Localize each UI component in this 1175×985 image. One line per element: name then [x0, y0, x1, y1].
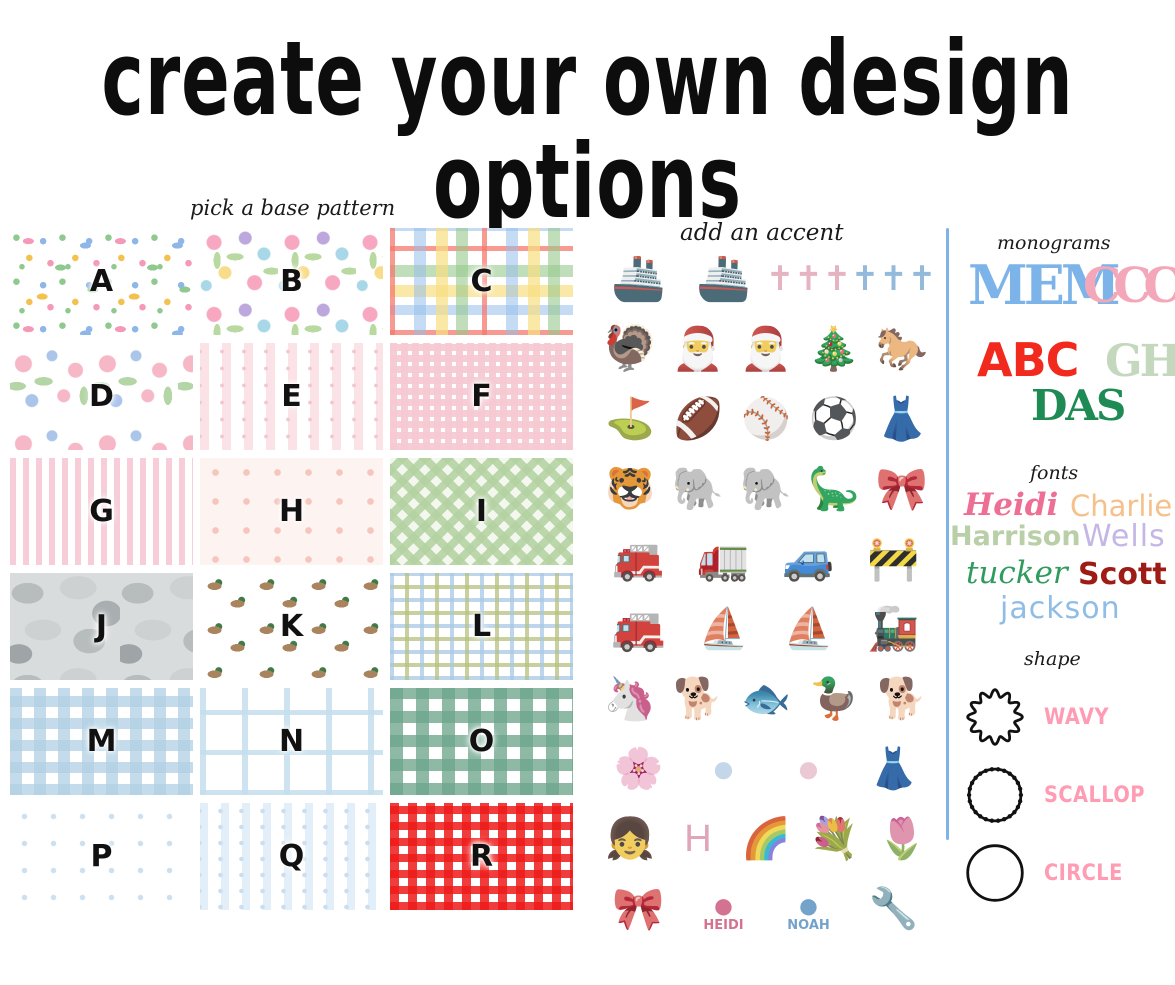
font-wells[interactable]: Wells [1082, 522, 1166, 552]
dump-truck-icon[interactable]: 🚛 [681, 526, 766, 592]
pattern-letter-p: P [10, 803, 193, 910]
monogram-options: MEM CCC ABC GHP DAS [955, 252, 1170, 432]
tulips-icon-glyph: 🌷 [877, 819, 927, 859]
pattern-letter-r: R [390, 803, 573, 910]
pink-crosses-icon[interactable]: ✝✝✝ [766, 246, 851, 312]
pattern-swatch-m[interactable]: M [10, 688, 193, 795]
pattern-letter-b: B [200, 228, 383, 335]
rocking-horse-icon-glyph: 🐎 [876, 328, 928, 370]
red-fire-truck-icon-glyph: 🚒 [612, 538, 664, 580]
pink-noahs-ark-icon[interactable]: 🚢 [596, 246, 681, 312]
pattern-swatch-h[interactable]: H [200, 458, 383, 565]
pink-crosses-icon-glyph: ✝✝✝ [766, 262, 851, 296]
hydrangea-icon[interactable]: 💐 [800, 806, 868, 872]
pink-bow-icon[interactable]: 🎀 [868, 456, 936, 522]
pattern-letter-l: L [390, 573, 573, 680]
lab-puppy-icon-glyph: 🐕 [877, 679, 927, 719]
font-options: Heidi Charlie Harrison Wells tucker Scot… [950, 490, 1175, 630]
elephants-icon[interactable]: 🐘 [664, 456, 732, 522]
pattern-letter-h: H [200, 458, 383, 565]
blue-train-icon[interactable]: 🚂 [851, 596, 936, 662]
monogram-ccc[interactable]: CCC [1083, 262, 1174, 310]
blue-crosses-icon[interactable]: ✝✝✝ [851, 246, 936, 312]
font-scott[interactable]: Scott [1078, 560, 1167, 590]
rainbow-with-bows-icon[interactable]: 🌈 [732, 806, 800, 872]
pink-gingham-bow-ears-icon-glyph: ● [796, 749, 820, 789]
pink-unicorn-icon[interactable]: 🦄 [596, 666, 664, 732]
elephant-with-bow-icon-glyph: 🐘 [740, 468, 792, 510]
pattern-letter-d: D [10, 343, 193, 450]
pattern-letter-q: Q [200, 803, 383, 910]
floral-ears-bow-icon-glyph: 🌸 [614, 749, 664, 789]
rocking-horse-icon[interactable]: 🐎 [868, 316, 936, 382]
accent-row-4: 🐯🐘🐘🦕🎀 [596, 456, 936, 522]
elephants-icon-glyph: 🐘 [672, 468, 724, 510]
accent-row-2: 🦃🎅🎅🎄🐎 [596, 316, 936, 382]
pattern-letter-i: I [390, 458, 573, 565]
pattern-swatch-k[interactable]: K [200, 573, 383, 680]
pattern-swatch-o[interactable]: O [390, 688, 573, 795]
monster-truck-icon-glyph: 🚙 [782, 538, 834, 580]
font-jackson[interactable]: jackson [1000, 594, 1121, 624]
pink-sailboat-icon-glyph: ⛵ [784, 609, 834, 649]
monogram-abc[interactable]: ABC [977, 337, 1078, 383]
accent-section-label: add an accent [680, 220, 843, 246]
blue-noahs-ark-icon-glyph: 🚢 [696, 257, 751, 301]
blue-fire-truck-icon-glyph: 🚒 [611, 607, 666, 651]
heidi-bow-ears-icon-label: HEIDI [703, 919, 743, 932]
tiger-mascot-icon-glyph: 🐯 [605, 469, 655, 509]
excavator-icon-glyph: 🚧 [867, 538, 919, 580]
accent-row-5: 🚒🚛🚙🚧 [596, 526, 936, 592]
golf-green-icon[interactable]: ⛳ [596, 386, 664, 452]
blue-santa-icon[interactable]: 🎅 [664, 316, 732, 382]
pink-unicorn-icon-glyph: 🦄 [604, 678, 656, 720]
fonts-section-label: fonts [1030, 462, 1078, 484]
scallop-shape-icon [960, 760, 1030, 830]
turkey-icon-glyph: 🦃 [603, 327, 658, 371]
blue-gingham-ears-icon-glyph: ● [711, 749, 735, 789]
base-pattern-section-label: pick a base pattern [190, 196, 395, 220]
pink-santa-icon[interactable]: 🎅 [732, 316, 800, 382]
blue-crosses-icon-glyph: ✝✝✝ [851, 262, 936, 296]
blue-fire-truck-icon[interactable]: 🚒 [596, 596, 681, 662]
monogram-ghp[interactable]: GHP [1105, 340, 1175, 384]
baseball-bat-icon-glyph: ⚾ [741, 399, 791, 439]
green-fish-icon-glyph: 🐟 [741, 679, 791, 719]
princess-dresses-icon[interactable]: 👗 [851, 736, 936, 802]
pink-doll-silhouette-icon-glyph: 👧 [605, 819, 655, 859]
font-charlie[interactable]: Charlie [1070, 492, 1172, 521]
accent-row-3: ⛳🏈⚾⚽👗 [596, 386, 936, 452]
pattern-swatch-q[interactable]: Q [200, 803, 383, 910]
blue-sailboat-icon-glyph: ⛵ [699, 609, 749, 649]
tulips-icon[interactable]: 🌷 [868, 806, 936, 872]
pattern-swatch-g[interactable]: G [10, 458, 193, 565]
accent-row-8: 🌸●●👗 [596, 736, 936, 802]
pattern-swatch-f[interactable]: F [390, 343, 573, 450]
pink-bow-large-icon-glyph: 🎀 [612, 888, 664, 930]
elephant-with-bow-icon[interactable]: 🐘 [732, 456, 800, 522]
floral-monogram-h-icon[interactable]: H [664, 806, 732, 872]
pattern-letter-j: J [10, 573, 193, 680]
accent-row-10: 🎀●HEIDI●NOAH🔧 [596, 876, 936, 942]
floral-monogram-h-icon-glyph: H [684, 820, 711, 858]
shape-options: WAVY SCALLOP CIRCLE [960, 682, 1175, 900]
pink-bow-large-icon[interactable]: 🎀 [596, 876, 681, 942]
tools-icon-glyph: 🔧 [869, 889, 919, 929]
football-icon[interactable]: 🏈 [664, 386, 732, 452]
lab-puppy-icon[interactable]: 🐕 [868, 666, 936, 732]
font-heidi[interactable]: Heidi [964, 490, 1058, 521]
pattern-letter-c: C [390, 228, 573, 335]
mallard-duck-icon[interactable]: 🦆 [800, 666, 868, 732]
pattern-swatch-p[interactable]: P [10, 803, 193, 910]
pink-santa-icon-glyph: 🎅 [740, 328, 792, 370]
football-icon-glyph: 🏈 [673, 399, 723, 439]
excavator-icon[interactable]: 🚧 [851, 526, 936, 592]
shape-option-circle[interactable]: CIRCLE [960, 838, 1175, 908]
wavy-shape-icon [960, 682, 1030, 752]
puppy-icon[interactable]: 🐕 [664, 666, 732, 732]
mallard-duck-icon-glyph: 🦆 [809, 679, 859, 719]
pink-bow-icon-glyph: 🎀 [876, 468, 928, 510]
red-fire-truck-icon[interactable]: 🚒 [596, 526, 681, 592]
pattern-letter-f: F [390, 343, 573, 450]
turkey-icon[interactable]: 🦃 [596, 316, 664, 382]
tiger-mascot-icon[interactable]: 🐯 [596, 456, 664, 522]
pink-tutu-icon[interactable]: 👗 [868, 386, 936, 452]
princess-dresses-icon-glyph: 👗 [869, 749, 919, 789]
pattern-swatch-b[interactable]: B [200, 228, 383, 335]
pattern-swatch-l[interactable]: L [390, 573, 573, 680]
font-tucker[interactable]: tucker [966, 558, 1068, 589]
floral-ears-bow-icon[interactable]: 🌸 [596, 736, 681, 802]
christmas-tree-icon[interactable]: 🎄 [800, 316, 868, 382]
shape-section-label: shape [1024, 648, 1081, 670]
pattern-swatch-j[interactable]: J [10, 573, 193, 680]
blue-sailboat-icon[interactable]: ⛵ [681, 596, 766, 662]
dump-truck-icon-glyph: 🚛 [697, 538, 749, 580]
dinosaur-icon-glyph: 🦕 [808, 468, 860, 510]
pattern-swatch-e[interactable]: E [200, 343, 383, 450]
shape-option-scallop[interactable]: SCALLOP [960, 760, 1175, 830]
soccer-goal-icon[interactable]: ⚽ [800, 386, 868, 452]
shape-label-wavy: WAVY [1044, 705, 1109, 730]
pink-noahs-ark-icon-glyph: 🚢 [611, 257, 666, 301]
pattern-swatch-a[interactable]: A [10, 228, 193, 335]
blue-gingham-ears-icon[interactable]: ● [681, 736, 766, 802]
monograms-section-label: monograms [997, 232, 1110, 254]
blue-santa-icon-glyph: 🎅 [672, 328, 724, 370]
pattern-swatch-c[interactable]: C [390, 228, 573, 335]
shape-label-circle: CIRCLE [1044, 861, 1123, 886]
pattern-swatch-d[interactable]: D [10, 343, 193, 450]
pattern-letter-m: M [10, 688, 193, 795]
soccer-goal-icon-glyph: ⚽ [809, 399, 859, 439]
pink-gingham-bow-ears-icon[interactable]: ● [766, 736, 851, 802]
rainbow-with-bows-icon-glyph: 🌈 [741, 819, 791, 859]
accent-row-7: 🦄🐕🐟🦆🐕 [596, 666, 936, 732]
monogram-das[interactable]: DAS [1031, 385, 1124, 427]
accent-icon-panel: 🚢🚢✝✝✝✝✝✝🦃🎅🎅🎄🐎⛳🏈⚾⚽👗🐯🐘🐘🦕🎀🚒🚛🚙🚧🚒⛵⛵🚂🦄🐕🐟🦆🐕🌸●●👗… [596, 246, 936, 914]
pattern-letter-g: G [10, 458, 193, 565]
heidi-bow-ears-icon[interactable]: ●HEIDI [681, 876, 766, 942]
pattern-swatch-n[interactable]: N [200, 688, 383, 795]
accent-row-6: 🚒⛵⛵🚂 [596, 596, 936, 662]
blue-noahs-ark-icon[interactable]: 🚢 [681, 246, 766, 312]
pattern-letter-n: N [200, 688, 383, 795]
christmas-tree-icon-glyph: 🎄 [808, 328, 860, 370]
font-harrison[interactable]: Harrison [950, 523, 1081, 550]
pattern-letter-o: O [390, 688, 573, 795]
green-fish-icon[interactable]: 🐟 [732, 666, 800, 732]
hydrangea-icon-glyph: 💐 [809, 819, 859, 859]
pattern-swatch-r[interactable]: R [390, 803, 573, 910]
accent-row-1: 🚢🚢✝✝✝✝✝✝ [596, 246, 936, 312]
golf-green-icon-glyph: ⛳ [605, 399, 655, 439]
pattern-letter-k: K [200, 573, 383, 680]
noah-ears-icon-label: NOAH [787, 919, 830, 932]
tools-icon[interactable]: 🔧 [851, 876, 936, 942]
dinosaur-icon[interactable]: 🦕 [800, 456, 868, 522]
puppy-icon-glyph: 🐕 [673, 679, 723, 719]
circle-shape-icon [960, 838, 1030, 908]
noah-ears-icon[interactable]: ●NOAH [766, 876, 851, 942]
shape-label-scallop: SCALLOP [1044, 783, 1145, 808]
pattern-swatch-grid: ABCDEFGHIJKLMNOPQR [10, 228, 575, 912]
pink-doll-silhouette-icon[interactable]: 👧 [596, 806, 664, 872]
pattern-swatch-i[interactable]: I [390, 458, 573, 565]
accent-row-9: 👧H🌈💐🌷 [596, 806, 936, 872]
pink-tutu-icon-glyph: 👗 [876, 398, 928, 440]
shape-option-wavy[interactable]: WAVY [960, 682, 1175, 752]
monster-truck-icon[interactable]: 🚙 [766, 526, 851, 592]
baseball-bat-icon[interactable]: ⚾ [732, 386, 800, 452]
pattern-letter-e: E [200, 343, 383, 450]
vertical-divider [946, 228, 949, 840]
blue-train-icon-glyph: 🚂 [867, 608, 919, 650]
pattern-letter-a: A [10, 228, 193, 335]
pink-sailboat-icon[interactable]: ⛵ [766, 596, 851, 662]
